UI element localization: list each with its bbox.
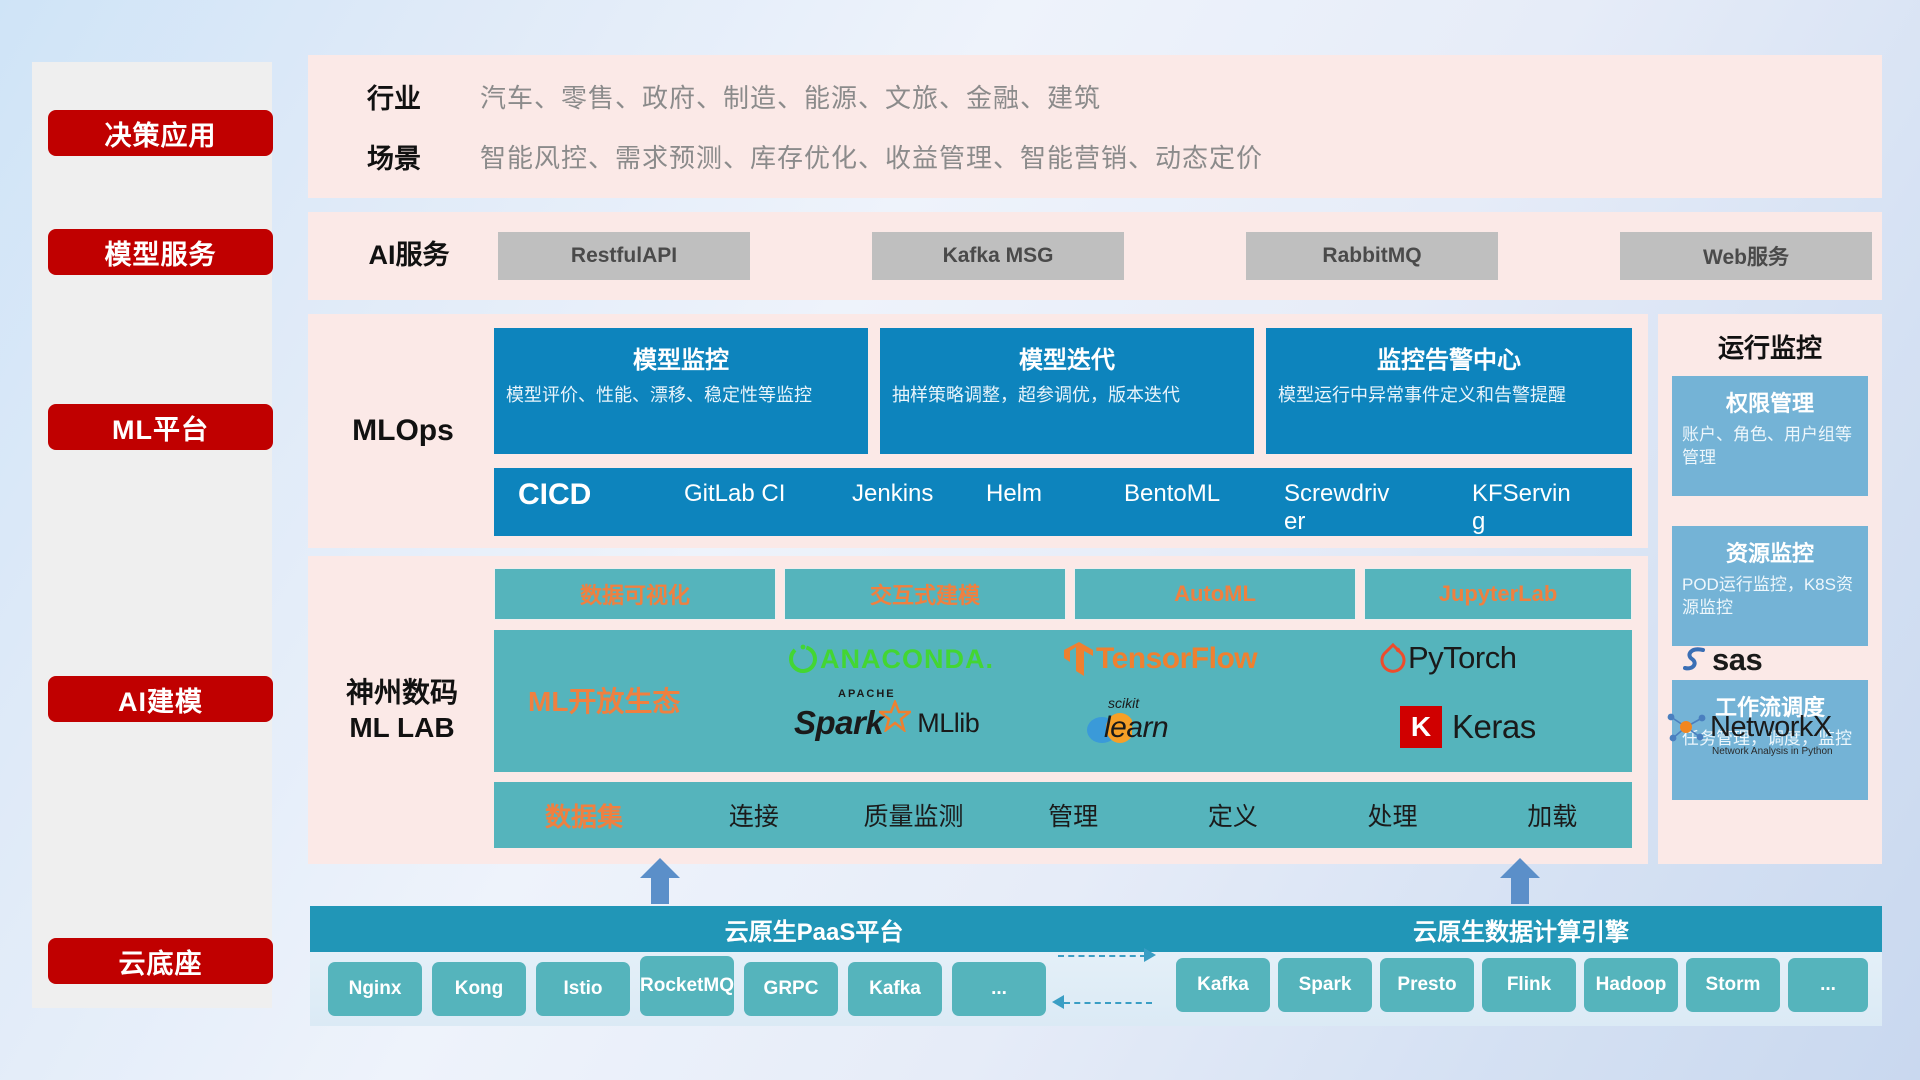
- industry-row: 行业 汽车、零售、政府、制造、能源、文旅、金融、建筑: [334, 77, 1101, 116]
- cicd-bar: CICD GitLab CI Jenkins Helm BentoML Scre…: [494, 468, 1632, 536]
- rail-label: AI建模: [118, 680, 203, 719]
- paas-tech-more[interactable]: ...: [952, 962, 1046, 1016]
- cicd-item-screwdriver[interactable]: Screwdriver: [1284, 480, 1396, 535]
- keras-mark-letter: K: [1411, 711, 1431, 743]
- networkx-wordmark: NetworkX: [1710, 711, 1832, 743]
- cicd-item-kfserving[interactable]: KFServing: [1472, 480, 1584, 535]
- rail-item-ai-modeling[interactable]: AI建模: [48, 676, 273, 722]
- pytorch-mark-icon: [1378, 641, 1408, 675]
- rail-label: 决策应用: [105, 114, 217, 153]
- sas-mark-icon: [1678, 643, 1712, 677]
- layer-rail: [32, 62, 272, 1008]
- cicd-item-bentoml[interactable]: BentoML: [1124, 480, 1236, 508]
- mon-card-title: 权限管理: [1682, 386, 1858, 418]
- keras-mark-icon: K: [1400, 706, 1442, 748]
- lab-tab-automl[interactable]: AutoML: [1074, 568, 1356, 620]
- anaconda-mark-icon: [786, 642, 820, 676]
- rail-item-ml-platform[interactable]: ML平台: [48, 404, 273, 450]
- mlops-card-desc: 模型运行中异常事件定义和告警提醒: [1278, 383, 1620, 407]
- ml-lab-panel: 神州数码 ML LAB 数据可视化 交互式建模 AutoML JupyterLa…: [308, 556, 1648, 864]
- mlops-card-model-monitoring[interactable]: 模型监控 模型评价、性能、漂移、稳定性等监控: [494, 328, 868, 454]
- dataset-item-manage[interactable]: 管理: [993, 797, 1153, 833]
- rail-label: 云底座: [119, 942, 203, 981]
- arrow-up-engine-to-lab: [1500, 858, 1540, 904]
- paas-tech-istio[interactable]: Istio: [536, 962, 630, 1016]
- cicd-item-gitlab-ci[interactable]: GitLab CI: [684, 480, 796, 508]
- ai-chip-web-service[interactable]: Web服务: [1620, 232, 1872, 280]
- tech-label: Kafka: [869, 979, 921, 1000]
- tensorflow-logo: TensorFlow: [1062, 640, 1257, 678]
- tech-label: Presto: [1397, 975, 1456, 996]
- scenario-row: 场景 智能风控、需求预测、库存优化、收益管理、智能营销、动态定价: [334, 137, 1263, 176]
- rail-item-model-service[interactable]: 模型服务: [48, 229, 273, 275]
- networkx-tagline: Network Analysis in Python: [1712, 746, 1833, 757]
- ml-lab-label: 神州数码 ML LAB: [312, 556, 492, 864]
- engine-tech-more[interactable]: ...: [1788, 958, 1868, 1012]
- mlops-card-title: 监控告警中心: [1278, 340, 1620, 375]
- sas-wordmark: sas: [1712, 642, 1762, 678]
- spark-apache-label: APACHE: [838, 688, 896, 700]
- tech-label: ...: [991, 979, 1007, 1000]
- tech-label: RocketMQ: [640, 976, 734, 997]
- networkx-mark-icon: [1666, 710, 1706, 744]
- mon-card-permission[interactable]: 权限管理 账户、角色、用户组等管理: [1672, 376, 1868, 496]
- mllib-wordmark: MLlib: [917, 708, 979, 739]
- rail-item-decision-app[interactable]: 决策应用: [48, 110, 273, 156]
- tech-label: Storm: [1706, 975, 1761, 996]
- cicd-item-helm[interactable]: Helm: [986, 480, 1098, 508]
- dataset-label: 数据集: [494, 797, 674, 834]
- ai-chip-label: Kafka MSG: [943, 244, 1054, 268]
- lab-tab-data-visualization[interactable]: 数据可视化: [494, 568, 776, 620]
- industry-key: 行业: [334, 77, 454, 116]
- architecture-diagram: 决策应用 模型服务 ML平台 AI建模 云底座 行业 汽车、零售、政府、制造、能…: [0, 0, 1920, 1080]
- mon-card-desc: 账户、角色、用户组等管理: [1682, 424, 1858, 470]
- engine-tech-spark[interactable]: Spark: [1278, 958, 1372, 1012]
- ml-open-ecosystem-title: ML开放生态: [528, 680, 680, 720]
- anaconda-wordmark: ANACONDA.: [820, 644, 994, 675]
- lab-tab-label: JupyterLab: [1439, 581, 1558, 607]
- rail-item-cloud-base[interactable]: 云底座: [48, 938, 273, 984]
- paas-tech-grpc[interactable]: GRPC: [744, 962, 838, 1016]
- tech-label: ...: [1820, 975, 1836, 996]
- lab-tab-label: 交互式建模: [870, 578, 980, 610]
- engine-tech-hadoop[interactable]: Hadoop: [1584, 958, 1678, 1012]
- dash-engine-to-paas: [1064, 1002, 1152, 1004]
- networkx-logo: NetworkX Network Analysis in Python: [1666, 710, 1832, 744]
- ai-service-label: AI服务: [334, 212, 484, 300]
- tech-label: Flink: [1507, 975, 1551, 996]
- mlops-card-desc: 抽样策略调整，超参调优，版本迭代: [892, 383, 1242, 407]
- dash-arrow-right-icon: [1144, 948, 1156, 962]
- scenario-key: 场景: [334, 137, 454, 176]
- paas-tech-kong[interactable]: Kong: [432, 962, 526, 1016]
- lab-tab-label: 数据可视化: [580, 578, 690, 610]
- tensorflow-wordmark: TensorFlow: [1096, 642, 1257, 676]
- pytorch-logo: PyTorch: [1378, 640, 1516, 676]
- paas-tech-kafka[interactable]: Kafka: [848, 962, 942, 1016]
- runtime-monitoring-panel: 运行监控 权限管理 账户、角色、用户组等管理 资源监控 POD运行监控，K8S资…: [1658, 314, 1882, 864]
- dataset-bar: 数据集 连接 质量监测 管理 定义 处理 加载: [494, 782, 1632, 848]
- dataset-item-load[interactable]: 加载: [1472, 797, 1632, 833]
- tech-label: Hadoop: [1596, 975, 1667, 996]
- paas-title: 云原生PaaS平台: [725, 912, 904, 947]
- ai-chip-label: Web服务: [1703, 241, 1789, 271]
- mon-card-desc: POD运行监控，K8S资源监控: [1682, 574, 1858, 620]
- dash-arrow-left-icon: [1052, 995, 1064, 1009]
- dataset-item-connect[interactable]: 连接: [674, 797, 834, 833]
- engine-tech-storm[interactable]: Storm: [1686, 958, 1780, 1012]
- pytorch-wordmark: PyTorch: [1408, 640, 1516, 676]
- ai-chip-kafka-msg[interactable]: Kafka MSG: [872, 232, 1124, 280]
- ml-lab-label-line1: 神州数码: [346, 675, 458, 710]
- arrow-up-paas-to-lab: [640, 858, 680, 904]
- ai-chip-rabbitmq[interactable]: RabbitMQ: [1246, 232, 1498, 280]
- rail-label: ML平台: [112, 408, 209, 447]
- runtime-monitoring-title: 运行监控: [1658, 328, 1882, 365]
- lab-tab-interactive-modeling[interactable]: 交互式建模: [784, 568, 1066, 620]
- mlops-card-desc: 模型评价、性能、漂移、稳定性等监控: [506, 383, 856, 407]
- ai-chip-label: RabbitMQ: [1322, 244, 1421, 268]
- dataset-item-process[interactable]: 处理: [1313, 797, 1473, 833]
- mlops-label: MLOps: [318, 314, 488, 548]
- tech-label: Istio: [563, 979, 602, 1000]
- mlops-card-model-iteration[interactable]: 模型迭代 抽样策略调整，超参调优，版本迭代: [880, 328, 1254, 454]
- rail-label: 模型服务: [105, 233, 217, 272]
- ai-chip-restfulapi[interactable]: RestfulAPI: [498, 232, 750, 280]
- scikit-learn-wordmark: learn: [1104, 711, 1168, 744]
- tech-label: Spark: [1299, 975, 1352, 996]
- tech-label: Kong: [455, 979, 504, 1000]
- lab-tab-label: AutoML: [1174, 581, 1256, 607]
- tech-label: GRPC: [764, 979, 819, 1000]
- dataset-item-define[interactable]: 定义: [1153, 797, 1313, 833]
- scenario-value: 智能风控、需求预测、库存优化、收益管理、智能营销、动态定价: [480, 138, 1263, 175]
- spark-wordmark: Spark: [794, 704, 883, 741]
- tech-label: Kafka: [1197, 975, 1249, 996]
- dash-paas-to-engine: [1058, 955, 1146, 957]
- engine-title: 云原生数据计算引擎: [1413, 912, 1629, 947]
- mlops-panel: MLOps 模型监控 模型评价、性能、漂移、稳定性等监控 模型迭代 抽样策略调整…: [308, 314, 1648, 548]
- scikit-label: scikit: [1108, 695, 1139, 711]
- tensorflow-mark-icon: [1062, 640, 1096, 678]
- engine-title-bar: 云原生数据计算引擎: [1160, 906, 1882, 952]
- mlops-card-title: 模型迭代: [892, 340, 1242, 375]
- dataset-item-quality[interactable]: 质量监测: [834, 797, 994, 833]
- engine-tech-presto[interactable]: Presto: [1380, 958, 1474, 1012]
- anaconda-logo: ANACONDA.: [786, 642, 994, 676]
- cicd-item-jenkins[interactable]: Jenkins: [852, 480, 964, 508]
- tech-label: Nginx: [349, 979, 402, 1000]
- ai-chip-label: RestfulAPI: [571, 244, 677, 268]
- cicd-title: CICD: [518, 478, 591, 512]
- engine-tech-kafka[interactable]: Kafka: [1176, 958, 1270, 1012]
- spark-star-icon: [879, 700, 911, 732]
- ai-service-panel: AI服务 RestfulAPI Kafka MSG RabbitMQ Web服务: [308, 212, 1882, 300]
- mon-card-resource[interactable]: 资源监控 POD运行监控，K8S资源监控: [1672, 526, 1868, 646]
- keras-logo: K Keras: [1400, 706, 1536, 748]
- mlops-card-title: 模型监控: [506, 340, 856, 375]
- industry-scenario-panel: 行业 汽车、零售、政府、制造、能源、文旅、金融、建筑 场景 智能风控、需求预测、…: [308, 55, 1882, 198]
- ml-lab-label-line2: ML LAB: [346, 710, 458, 745]
- paas-tech-nginx[interactable]: Nginx: [328, 962, 422, 1016]
- paas-tech-rocketmq[interactable]: RocketMQ: [640, 956, 734, 1016]
- spark-mllib-logo: APACHE Spark MLlib: [794, 704, 979, 742]
- lab-tab-jupyterlab[interactable]: JupyterLab: [1364, 568, 1632, 620]
- mon-card-title: 资源监控: [1682, 536, 1858, 568]
- industry-value: 汽车、零售、政府、制造、能源、文旅、金融、建筑: [480, 78, 1101, 115]
- keras-wordmark: Keras: [1452, 708, 1536, 746]
- sas-logo: sas: [1678, 642, 1762, 678]
- ml-open-ecosystem: ML开放生态 ANACONDA. TensorFlow: [494, 630, 1632, 772]
- scikit-learn-logo: scikit learn: [1086, 708, 1168, 748]
- mlops-card-alert-center[interactable]: 监控告警中心 模型运行中异常事件定义和告警提醒: [1266, 328, 1632, 454]
- engine-tech-flink[interactable]: Flink: [1482, 958, 1576, 1012]
